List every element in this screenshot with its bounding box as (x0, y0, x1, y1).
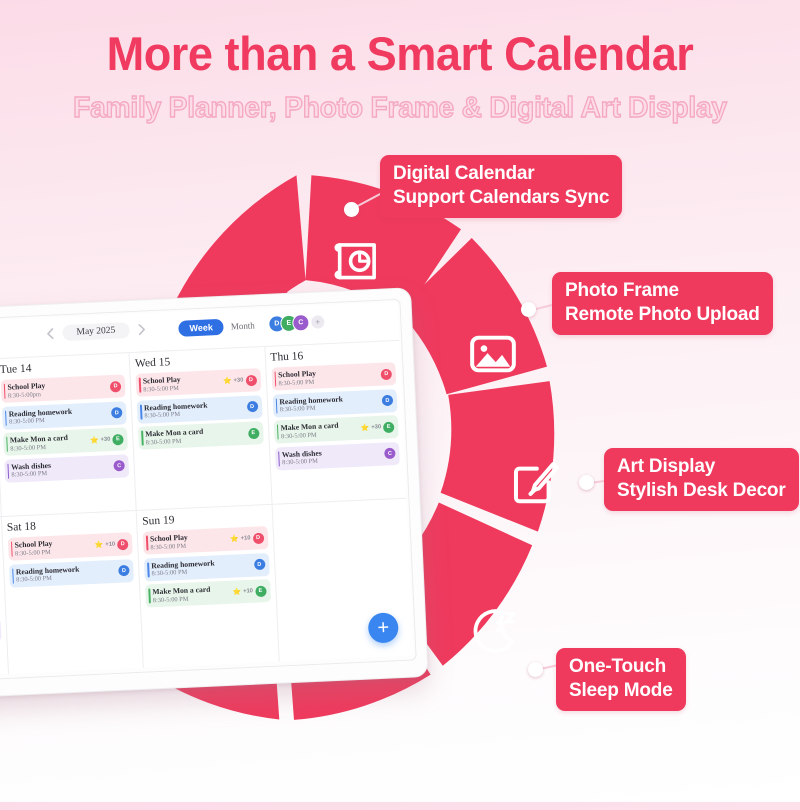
calendar-event[interactable]: School Play8:30-5:00pmD (0, 374, 125, 403)
day-cell[interactable]: Tue 14School Play8:30-5:00pmDReading hom… (0, 352, 136, 516)
calendar-event[interactable]: Make Mon a card8:30-5:00 PM⭐+10E (145, 579, 270, 608)
event-meta: D (111, 407, 122, 418)
event-meta: D (118, 565, 129, 576)
calendar-event[interactable]: Make Mon a card8:30-5:00 PM⭐+30E (273, 415, 398, 444)
calendar-event[interactable]: Make Mon a card8:30-5:00 PME (138, 421, 263, 450)
day-label: Tue 14 (0, 358, 124, 376)
star-icon: ⭐ (360, 424, 369, 431)
view-month-button[interactable]: Month (231, 320, 255, 331)
day-cell[interactable]: Thu 16School Play8:30-5:00 PMDReading ho… (264, 340, 407, 504)
star-icon: ⭐ (223, 378, 232, 385)
event-avatar: D (382, 395, 393, 406)
feature-2-line2: Remote Photo Upload (565, 303, 760, 327)
event-meta: ⭐+30E (360, 421, 394, 434)
feature-4-line1: One-Touch (569, 655, 673, 679)
pen-canvas-icon (506, 455, 564, 513)
event-points: +30 (233, 377, 243, 383)
view-mode-toggle: Week Month (178, 317, 255, 336)
event-meta: ⭐+10E (232, 585, 266, 598)
feature-3-line2: Stylish Desk Decor (617, 479, 786, 503)
calendar-event[interactable]: Wash dishes8:30-5:00pmC (0, 618, 1, 647)
event-avatar: E (112, 433, 123, 444)
add-member-button[interactable]: + (311, 315, 325, 329)
star-icon: ⭐ (230, 535, 239, 542)
event-meta: D (382, 395, 393, 406)
event-avatar: D (245, 374, 256, 385)
event-points: +10 (241, 535, 251, 541)
day-cell[interactable]: Wed 15School Play8:30-5:00 PM⭐+30DReadin… (129, 346, 272, 510)
calendar-event[interactable]: Reading homework8:30-5:00 PMD (144, 553, 269, 582)
event-meta: ⭐+30D (223, 374, 257, 387)
star-icon: ⭐ (232, 588, 241, 595)
event-avatar: C (113, 460, 124, 471)
photo-image-icon (464, 325, 522, 383)
day-label: Wed 15 (135, 352, 260, 370)
calendar-event[interactable]: Make Mon a card8:30-5:00 PM⭐+30E (3, 427, 128, 456)
day-cell[interactable]: Sat 18School Play8:30-5:00 PM⭐+10DReadin… (0, 510, 143, 674)
calendar-event[interactable]: Reading homework8:30-5:00 PMD (272, 389, 397, 418)
event-meta: D (110, 381, 121, 392)
connector-dot-3 (579, 475, 594, 490)
calendar-event[interactable]: School Play8:30-5:00 PMD (271, 362, 396, 391)
presentation-chart-icon (327, 234, 385, 292)
event-avatar: E (255, 585, 266, 596)
event-meta: ⭐+10D (230, 532, 264, 545)
event-meta: D (381, 368, 392, 379)
feature-callout-3[interactable]: Art Display Stylish Desk Decor (604, 448, 799, 511)
event-avatar: D (252, 532, 263, 543)
connector-dot-2 (521, 302, 536, 317)
chevron-left-icon[interactable] (42, 325, 59, 342)
star-icon: ⭐ (95, 541, 104, 548)
event-meta: E (248, 427, 259, 438)
feature-callout-2[interactable]: Photo Frame Remote Photo Upload (552, 272, 773, 335)
calendar-event[interactable]: Wash dishes8:30-5:00 PMC (4, 454, 129, 483)
event-avatar: D (118, 565, 129, 576)
star-icon: ⭐ (90, 437, 99, 444)
event-points: +10 (105, 541, 115, 547)
feature-1-line1: Digital Calendar (393, 162, 609, 186)
tablet-device: ews Family May 2025 Week Month D (0, 287, 429, 702)
event-avatar: D (111, 407, 122, 418)
page-subtitle: Family Planner, Photo Frame & Digital Ar… (12, 92, 788, 125)
avatar[interactable]: C (292, 314, 310, 332)
event-meta: C (384, 448, 395, 459)
month-navigator: May 2025 (42, 321, 149, 342)
event-meta: C (113, 460, 124, 471)
event-avatar: E (383, 421, 394, 432)
moon-sleep-icon (467, 600, 525, 658)
chevron-right-icon[interactable] (133, 321, 150, 338)
calendar-event[interactable]: School Play8:30-5:00 PM⭐+10D (143, 526, 268, 555)
day-label: Sun 19 (142, 510, 267, 528)
event-points: +30 (371, 424, 381, 430)
connector-dot-4 (528, 662, 543, 677)
calendar-event[interactable]: Reading homework8:30-5:00 PMD (137, 395, 262, 424)
week-grid: 13School Play8:30-5:00pmDReading homewor… (0, 340, 414, 680)
event-meta: D (254, 559, 265, 570)
member-avatars: D E C + (268, 313, 325, 333)
event-avatar: D (246, 401, 257, 412)
event-points: +30 (100, 437, 110, 443)
feature-4-line2: Sleep Mode (569, 679, 673, 703)
event-avatar: D (381, 368, 392, 379)
event-avatar: E (248, 427, 259, 438)
event-avatar: D (117, 538, 128, 549)
day-label: Sat 18 (7, 516, 132, 534)
page-title: More than a Smart Calendar (16, 26, 784, 81)
event-avatar: D (110, 381, 121, 392)
calendar-event[interactable]: School Play8:30-5:00 PM⭐+30D (136, 368, 261, 397)
event-points: +10 (243, 588, 253, 594)
calendar-event[interactable]: Wash dishes8:30-5:00 PMC (274, 441, 399, 470)
event-avatar: D (254, 559, 265, 570)
day-cell[interactable]: Sun 19School Play8:30-5:00 PM⭐+10DReadin… (136, 504, 279, 668)
device-screen: ews Family May 2025 Week Month D (0, 302, 414, 680)
feature-callout-1[interactable]: Digital Calendar Support Calendars Sync (380, 155, 622, 218)
event-meta: D (246, 401, 257, 412)
view-week-button[interactable]: Week (178, 319, 224, 337)
promo-banner: More than a Smart Calendar Family Planne… (0, 0, 800, 802)
feature-3-line1: Art Display (617, 455, 786, 479)
connector-dot-1 (344, 202, 359, 217)
calendar-event[interactable]: School Play8:30-5:00 PM⭐+10D (7, 532, 132, 561)
calendar-event[interactable]: Reading homework8:30-5:00 PMD (1, 401, 126, 430)
feature-1-line2: Support Calendars Sync (393, 186, 609, 210)
current-month-label[interactable]: May 2025 (62, 322, 129, 341)
event-meta: ⭐+30E (90, 433, 124, 446)
event-meta: ⭐+10D (94, 538, 128, 551)
calendar-event[interactable]: Reading homework8:30-5:00 PMD (9, 559, 134, 588)
feature-2-line1: Photo Frame (565, 279, 760, 303)
feature-callout-4[interactable]: One-Touch Sleep Mode (556, 648, 686, 711)
event-avatar: C (384, 448, 395, 459)
day-label: Thu 16 (270, 346, 395, 364)
